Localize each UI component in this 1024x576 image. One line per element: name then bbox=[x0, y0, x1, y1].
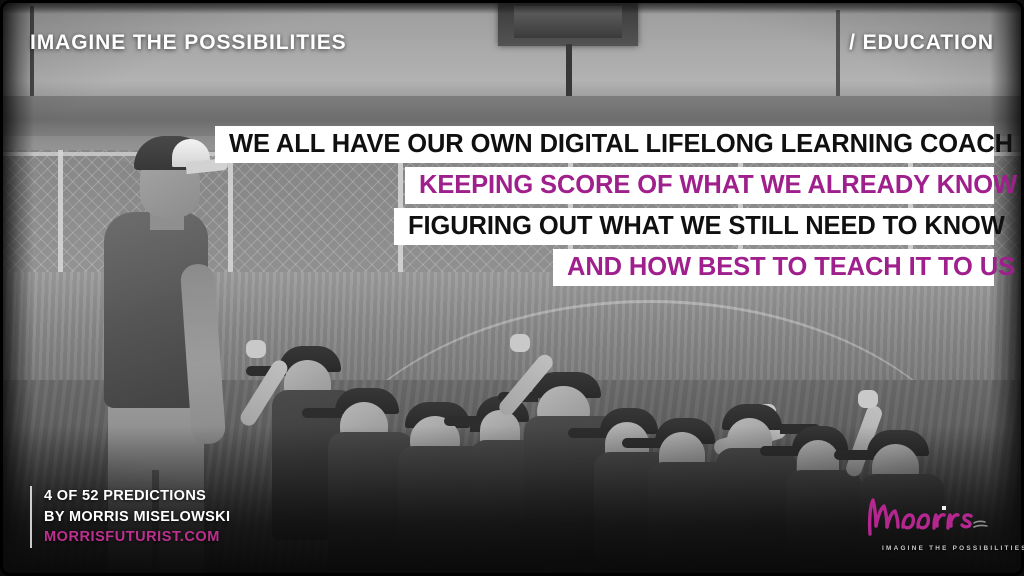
morris-wordmark-icon bbox=[856, 496, 996, 536]
headline-line-1: WE ALL HAVE OUR OWN DIGITAL LIFELONG LEA… bbox=[215, 126, 994, 163]
slide: IMAGINE THE POSSIBILITIES / EDUCATION WE… bbox=[0, 0, 1024, 576]
credit-line-website[interactable]: MORRISFUTURIST.COM bbox=[44, 527, 230, 548]
headline-line-1-text: WE ALL HAVE OUR OWN DIGITAL LIFELONG LEA… bbox=[229, 132, 1013, 158]
logo-tagline: IMAGINE THE POSSIBILITIES bbox=[882, 545, 1024, 552]
category-label: / EDUCATION bbox=[849, 31, 994, 55]
credit-line-author: BY MORRIS MISELOWSKI bbox=[44, 507, 230, 528]
headline-line-2: KEEPING SCORE OF WHAT WE ALREADY KNOW bbox=[405, 167, 994, 204]
headline-line-4: AND HOW BEST TO TEACH IT TO US bbox=[553, 249, 994, 286]
photo-kid-figure bbox=[716, 404, 796, 576]
headline-line-2-text: KEEPING SCORE OF WHAT WE ALREADY KNOW bbox=[419, 173, 1017, 199]
brand-tagline: IMAGINE THE POSSIBILITIES bbox=[30, 31, 347, 55]
slide-header: IMAGINE THE POSSIBILITIES / EDUCATION bbox=[0, 26, 1024, 60]
photo-fence-post bbox=[58, 150, 63, 278]
credit-line-prediction-count: 4 OF 52 PREDICTIONS bbox=[44, 486, 230, 507]
headline-line-3: FIGURING OUT WHAT WE STILL NEED TO KNOW bbox=[394, 208, 994, 245]
credit-block: 4 OF 52 PREDICTIONS BY MORRIS MISELOWSKI… bbox=[30, 486, 230, 548]
headline-line-3-text: FIGURING OUT WHAT WE STILL NEED TO KNOW bbox=[408, 214, 1005, 240]
photo-kid-figure bbox=[786, 426, 862, 576]
headline-line-4-text: AND HOW BEST TO TEACH IT TO US bbox=[567, 255, 1015, 281]
morris-logo[interactable]: IMAGINE THE POSSIBILITIES bbox=[856, 496, 996, 554]
photo-fence-post bbox=[228, 150, 233, 278]
